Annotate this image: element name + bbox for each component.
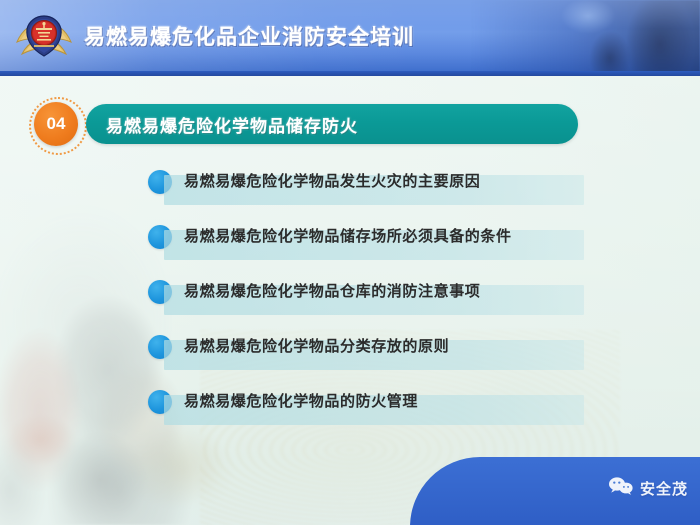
watermark-label: 安全茂 [640,478,688,499]
list-item-label: 易燃易爆危险化学物品发生火灾的主要原因 [184,168,480,196]
list-item-label: 易燃易爆危险化学物品分类存放的原则 [184,333,449,361]
section-number-badge: 04 [34,102,78,146]
bottom-edge-decoration [0,503,700,525]
list-item[interactable]: 易燃易爆危险化学物品发生火灾的主要原因 [148,162,588,217]
wechat-icon [608,476,634,501]
list-item-label: 易燃易爆危险化学物品仓库的消防注意事项 [184,278,480,306]
topic-list: 易燃易爆危险化学物品发生火灾的主要原因 易燃易爆危险化学物品储存场所必须具备的条… [148,162,588,437]
list-item[interactable]: 易燃易爆危险化学物品储存场所必须具备的条件 [148,217,588,272]
list-item[interactable]: 易燃易爆危险化学物品的防火管理 [148,382,588,437]
header-underline [0,71,700,76]
watermark: 安全茂 [608,476,688,501]
police-badge-icon [14,12,74,64]
list-item[interactable]: 易燃易爆危险化学物品分类存放的原则 [148,327,588,382]
section-title-label: 易燃易爆危险化学物品储存防火 [106,112,358,137]
page-title: 易燃易爆危化品企业消防安全培训 [84,21,414,51]
section-header: 04 易燃易爆危险化学物品储存防火 [34,102,594,146]
list-item-label: 易燃易爆危险化学物品储存场所必须具备的条件 [184,223,512,251]
section-title-pill: 易燃易爆危险化学物品储存防火 [86,104,578,144]
slide-canvas: 易燃易爆危化品企业消防安全培训 04 易燃易爆危险化学物品储存防火 易燃易爆危险… [0,0,700,525]
list-item-label: 易燃易爆危险化学物品的防火管理 [184,388,418,416]
list-item[interactable]: 易燃易爆危险化学物品仓库的消防注意事项 [148,272,588,327]
